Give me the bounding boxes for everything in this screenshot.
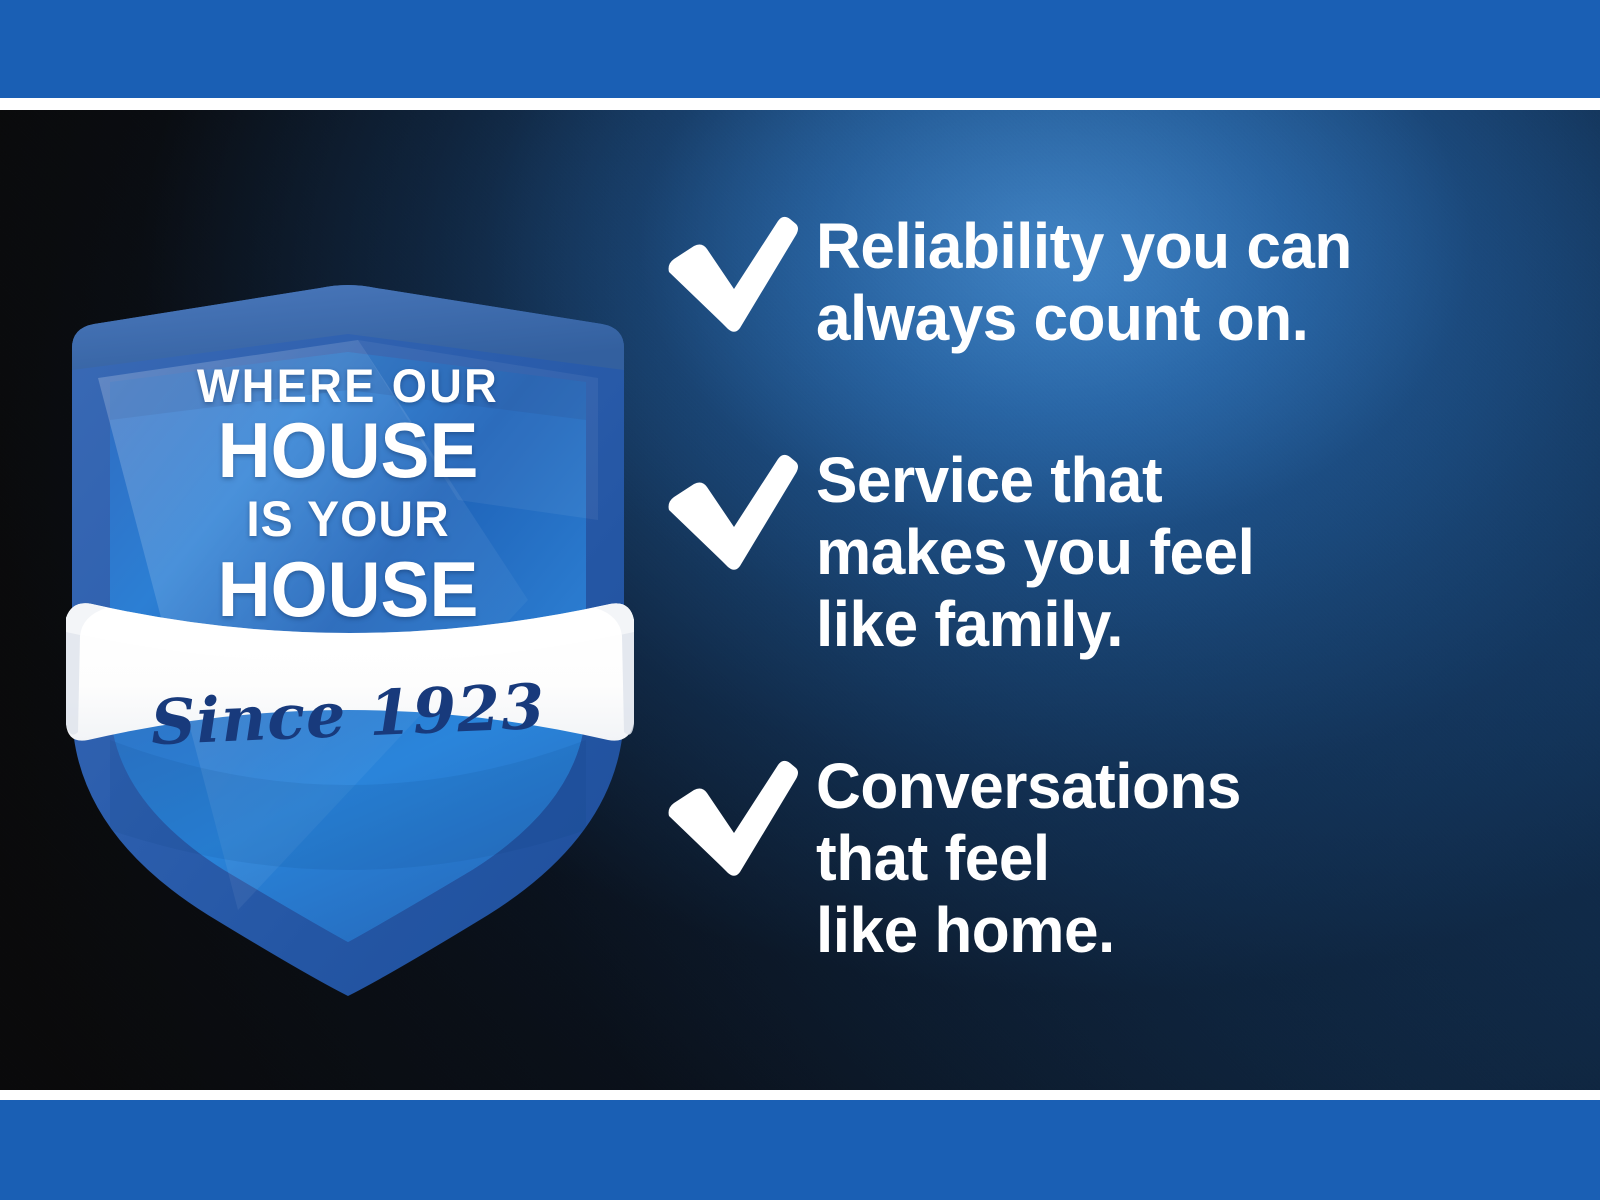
checkmark-icon <box>666 210 816 334</box>
shield-line-2: HOUSE <box>75 412 620 488</box>
content-panel: WHERE OUR HOUSE IS YOUR HOUSE Since 1923… <box>0 110 1600 1090</box>
list-item: Service that makes you feel like family. <box>666 444 1546 660</box>
shield-line-1: WHERE OUR <box>70 360 627 412</box>
shield-line-4: HOUSE <box>75 550 620 628</box>
list-item-text: Service that makes you feel like family. <box>816 444 1254 660</box>
promo-graphic: WHERE OUR HOUSE IS YOUR HOUSE Since 1923… <box>0 0 1600 1200</box>
list-item: Conversations that feel like home. <box>666 750 1546 966</box>
checkmark-icon-glyph <box>666 216 798 334</box>
top-brand-bar <box>0 0 1600 98</box>
list-item: Reliability you can always count on. <box>666 210 1546 354</box>
checkmark-icon <box>666 444 816 572</box>
list-item-text: Conversations that feel like home. <box>816 750 1241 966</box>
list-item-text: Reliability you can always count on. <box>816 210 1352 354</box>
checkmark-icon-glyph <box>666 454 798 572</box>
checkmark-icon-glyph <box>666 760 798 878</box>
bottom-brand-bar <box>0 1100 1600 1200</box>
checkmark-icon <box>666 750 816 878</box>
shield-tagline: WHERE OUR HOUSE IS YOUR HOUSE <box>58 360 638 628</box>
shield-line-3: IS YOUR <box>70 488 627 550</box>
benefits-list: Reliability you can always count on. Ser… <box>666 210 1546 966</box>
shield-badge: WHERE OUR HOUSE IS YOUR HOUSE Since 1923 <box>58 270 638 950</box>
